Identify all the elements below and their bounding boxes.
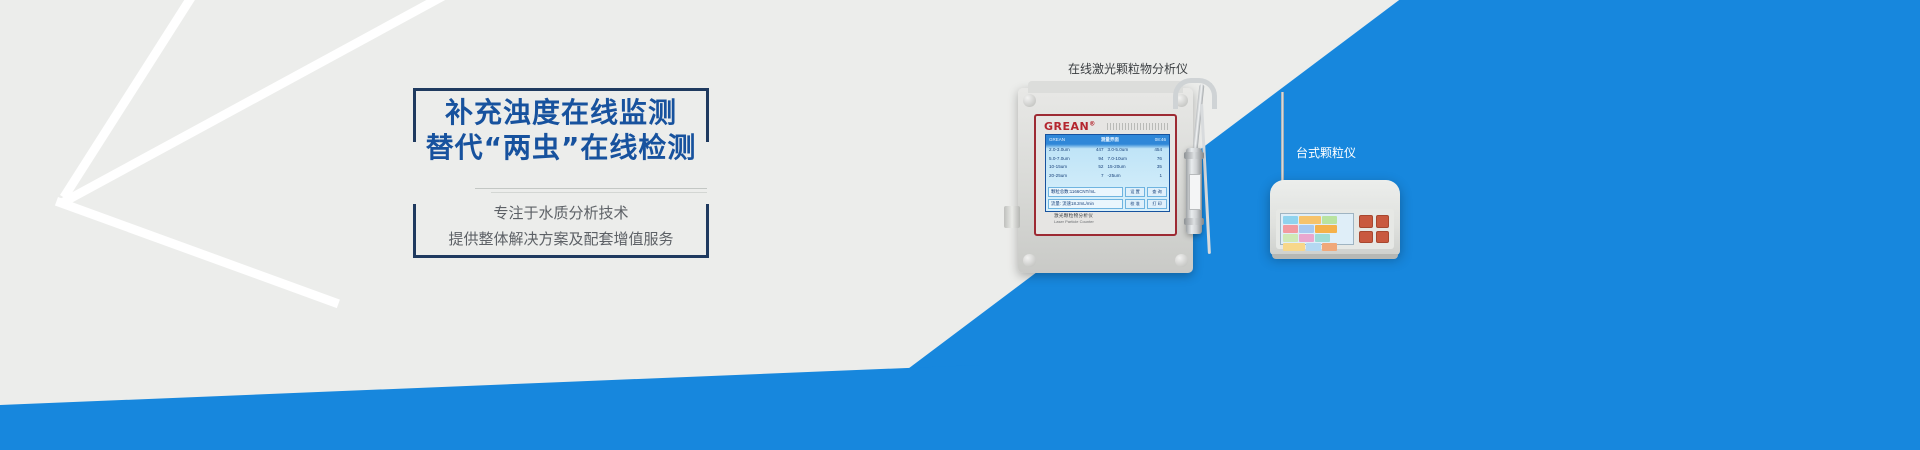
lcd-range-a: 20-25um xyxy=(1049,172,1082,181)
analyzer-side-connector xyxy=(1004,206,1020,228)
bracket-top-line xyxy=(413,88,709,91)
desktop-touchscreen xyxy=(1280,213,1354,245)
lcd-total-count-field: 颗粒总数:1166CNT/mL xyxy=(1048,187,1123,197)
analyzer-nameplate: 激光颗粒物分析仪 Laser Particle Counter xyxy=(1054,213,1094,224)
lcd-button-print[interactable]: 打 印 xyxy=(1147,199,1167,209)
desktop-keypad[interactable] xyxy=(1359,215,1389,243)
desktop-screen-tile[interactable] xyxy=(1306,243,1321,251)
tube-bend xyxy=(1173,78,1217,109)
brand-registered-mark: ® xyxy=(1089,120,1096,127)
stand-pole xyxy=(1281,92,1284,184)
lcd-range-b: 3.0-5.0um xyxy=(1108,146,1141,155)
lcd-range-a: 5.0-7.0um xyxy=(1049,155,1082,164)
lcd-value-b: 76 xyxy=(1140,155,1166,164)
page-title: 补充浊度在线监测 替代“两虫”在线检测 xyxy=(385,96,737,165)
lcd-footer: 颗粒总数:1166CNT/mL 设 置 查 询 流量: 流速18.2mL/min… xyxy=(1048,185,1167,209)
desktop-screen-tile[interactable] xyxy=(1322,243,1337,251)
lcd-value-a: 52 xyxy=(1082,163,1108,172)
lcd-button-settings[interactable]: 设 置 xyxy=(1125,187,1145,197)
lcd-table-row: 20-25um7-25um1 xyxy=(1049,172,1166,181)
brand-name: GREAN xyxy=(1044,120,1089,133)
headline-line-1: 补充浊度在线监测 xyxy=(385,96,737,131)
analyzer-top-cover xyxy=(1028,81,1183,93)
lcd-range-a: 10-15um xyxy=(1049,163,1082,172)
lcd-brand-label: GREAN xyxy=(1049,137,1065,142)
desktop-screen-tile[interactable] xyxy=(1299,216,1321,224)
desktop-key-4[interactable] xyxy=(1376,231,1390,244)
lcd-value-a: 7 xyxy=(1082,172,1108,181)
lcd-value-b: 35 xyxy=(1140,163,1166,172)
headline-line-2: 替代“两虫”在线检测 xyxy=(385,131,737,166)
sensor-band-lower xyxy=(1184,218,1204,225)
lcd-status-bar: GREAN 测量界面 08:46 xyxy=(1046,135,1169,144)
desktop-screen-tile[interactable] xyxy=(1315,234,1330,242)
lcd-table-row: 10-15um5215-20um35 xyxy=(1049,163,1166,172)
lcd-title: 测量界面 xyxy=(1101,137,1119,143)
desktop-screen-tile[interactable] xyxy=(1299,234,1314,242)
analyzer-front-panel: GREAN® GREAN 测量界面 08:46 2.0-3.0um4473.0-… xyxy=(1034,114,1177,236)
background-blue-bottom-bar xyxy=(0,405,1920,450)
lcd-range-b: -25um xyxy=(1108,172,1141,181)
divider-line-lower xyxy=(491,192,707,193)
desktop-screen-tile[interactable] xyxy=(1283,216,1298,224)
sensor-label-strip xyxy=(1189,174,1201,210)
analyzer-hinge-top-left xyxy=(1023,94,1036,107)
lcd-flow-rate-field: 流量: 流速18.2mL/min xyxy=(1048,199,1123,209)
desktop-key-2[interactable] xyxy=(1376,215,1390,228)
desktop-screen-tile[interactable] xyxy=(1283,243,1305,251)
brand-logo: GREAN® xyxy=(1044,120,1096,133)
desktop-key-3[interactable] xyxy=(1359,231,1373,244)
callout-label-desktop: 台式颗粒仪 xyxy=(1296,144,1356,161)
lcd-table-row: 2.0-3.0um4473.0-5.0um454 xyxy=(1049,146,1166,155)
lcd-button-calibrate[interactable]: 校 准 xyxy=(1125,199,1145,209)
inline-sensor-housing xyxy=(1186,148,1202,234)
lcd-button-query[interactable]: 查 询 xyxy=(1147,187,1167,197)
promo-banner: 补充浊度在线监测 替代“两虫”在线检测 专注于水质分析技术 提供整体解决方案及配… xyxy=(0,0,1920,450)
subtitle-line-1: 专注于水质分析技术 xyxy=(395,200,727,226)
analyzer-hinge-bottom-left xyxy=(1023,254,1036,267)
lcd-clock: 08:46 xyxy=(1155,137,1166,142)
lcd-measurement-table: 2.0-3.0um4473.0-5.0um4545.0-7.0um947.0-1… xyxy=(1046,144,1169,181)
desktop-screen-tile[interactable] xyxy=(1299,225,1314,233)
lcd-value-b: 454 xyxy=(1140,146,1166,155)
desktop-screen-tile[interactable] xyxy=(1283,225,1298,233)
subtitle-block: 专注于水质分析技术 提供整体解决方案及配套增值服务 xyxy=(395,200,727,253)
callout-label-analyzer: 在线激光颗粒物分析仪 xyxy=(1068,60,1188,77)
analyzer-lcd-screen: GREAN 测量界面 08:46 2.0-3.0um4473.0-5.0um45… xyxy=(1045,134,1170,212)
analyzer-hinge-bottom-right xyxy=(1175,254,1188,267)
desktop-front-panel xyxy=(1276,209,1394,249)
desktop-screen-tile[interactable] xyxy=(1322,216,1337,224)
bracket-bottom-line xyxy=(413,255,709,258)
subtitle-line-2: 提供整体解决方案及配套增值服务 xyxy=(395,226,727,252)
lcd-range-a: 2.0-3.0um xyxy=(1049,146,1082,155)
desktop-screen-tile[interactable] xyxy=(1283,234,1298,242)
lcd-value-b: 1 xyxy=(1140,172,1166,181)
desktop-particle-counter xyxy=(1270,180,1400,255)
desktop-key-1[interactable] xyxy=(1359,215,1373,228)
sensor-band-upper xyxy=(1184,152,1204,159)
desktop-base xyxy=(1272,254,1398,259)
lcd-value-a: 94 xyxy=(1082,155,1108,164)
desktop-screen-tile[interactable] xyxy=(1315,225,1337,233)
divider-line-upper xyxy=(475,188,707,189)
lcd-value-a: 447 xyxy=(1082,146,1108,155)
vent-grille-icon xyxy=(1107,123,1169,130)
headline-block: 补充浊度在线监测 替代“两虫”在线检测 专注于水质分析技术 提供整体解决方案及配… xyxy=(413,88,709,258)
online-laser-particle-analyzer: GREAN® GREAN 测量界面 08:46 2.0-3.0um4473.0-… xyxy=(1018,88,1193,273)
lcd-table-row: 5.0-7.0um947.0-10um76 xyxy=(1049,155,1166,164)
lcd-range-b: 15-20um xyxy=(1108,163,1141,172)
lcd-range-b: 7.0-10um xyxy=(1108,155,1141,164)
nameplate-en: Laser Particle Counter xyxy=(1054,219,1094,224)
